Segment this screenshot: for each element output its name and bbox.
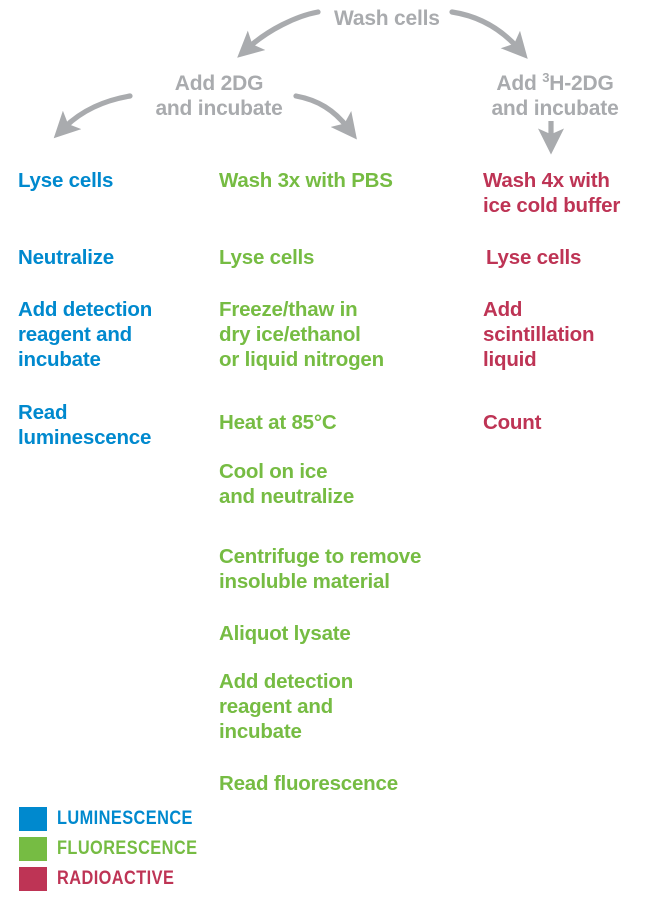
step-item: Count [483,410,541,435]
assay-workflow-diagram: Wash cells Add 2DG and incubate Add 3H-2… [0,0,648,903]
step-item: Cool on ice and neutralize [219,459,354,509]
step-item: Aliquot lysate [219,621,351,646]
legend-label: RADIOACTIVE [57,868,174,890]
legend-label: LUMINESCENCE [57,808,193,830]
arrow-wash-to-h2dg [452,12,518,48]
step-item: Wash 4x with ice cold buffer [483,168,620,218]
step-item: Neutralize [18,245,114,270]
step-item: Add detection reagent and incubate [18,297,152,372]
step-item: Lyse cells [486,245,581,270]
flow-arrows [0,0,648,903]
legend-swatch-luminescence [19,807,47,831]
legend-item-luminescence: LUMINESCENCE [19,806,220,832]
step-item: Read fluorescence [219,771,398,796]
step-item: Wash 3x with PBS [219,168,393,193]
legend-item-radioactive: RADIOACTIVE [19,866,220,892]
legend-swatch-fluorescence [19,837,47,861]
step-item: Lyse cells [219,245,314,270]
step-item: Freeze/thaw in dry ice/ethanol or liquid… [219,297,384,372]
step-item: Add detection reagent and incubate [219,669,353,744]
legend: LUMINESCENCE FLUORESCENCE RADIOACTIVE [19,806,220,896]
step-item: Heat at 85°C [219,410,336,435]
legend-label: FLUORESCENCE [57,838,197,860]
arrow-2dg-to-luminescence [64,96,130,128]
step-item: Lyse cells [18,168,113,193]
step-item: Centrifuge to remove insoluble material [219,544,421,594]
arrow-2dg-to-fluorescence [296,96,348,128]
flow-label-prefix: Add [496,72,542,95]
legend-swatch-radioactive [19,867,47,891]
flow-label-add-3h-2dg: Add 3H-2DG and incubate [480,71,630,121]
flow-label-add-2dg: Add 2DG and incubate [148,71,290,121]
legend-item-fluorescence: FLUORESCENCE [19,836,220,862]
step-item: Add scintillation liquid [483,297,594,372]
arrow-wash-to-2dg [248,12,318,48]
flow-label-wash-cells: Wash cells [334,6,440,31]
step-item: Read luminescence [18,400,151,450]
